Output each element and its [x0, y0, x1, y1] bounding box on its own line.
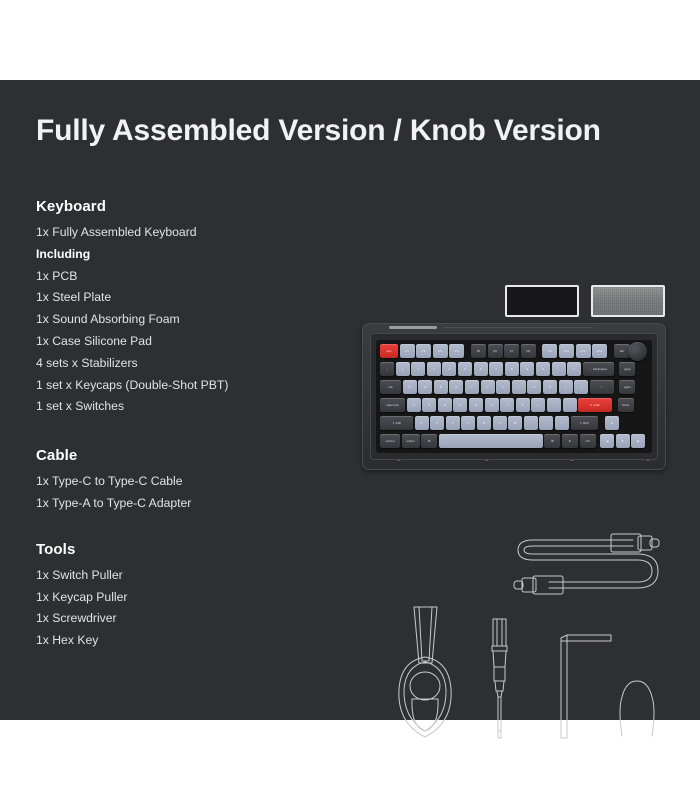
section-heading-cable: Cable [36, 447, 356, 464]
keyboard-row-shift: ⇧ shift Z X C V B N M , . / ⇧ shift [380, 416, 619, 430]
list-item: 4 sets x Stabilizers [36, 353, 356, 375]
key-control: control [380, 434, 400, 448]
page-title: Fully Assembled Version / Knob Version [36, 114, 601, 148]
key-9: 9 [520, 362, 534, 376]
key-period: . [539, 416, 553, 430]
list-item: 1x Type-C to Type-C Cable [36, 471, 356, 493]
key-o: O [527, 380, 541, 394]
key-4: 4 [442, 362, 456, 376]
key-arrow-left: ◀ [600, 434, 614, 448]
screwdriver-line-art [492, 619, 507, 738]
key-2: 2 [411, 362, 425, 376]
key-0: 0 [536, 362, 550, 376]
key-f5: F5 [471, 344, 486, 358]
key-f7: F7 [504, 344, 519, 358]
key-u: U [496, 380, 510, 394]
key-f12: F12 [592, 344, 607, 358]
keyboard-plate: esc F1 F2 F3 F4 F5 F6 F7 F8 F9 F10 F11 [376, 340, 652, 453]
list-item: 1x Hex Key [36, 630, 356, 652]
keyboard-top-bar [389, 326, 437, 329]
key-f4: F4 [449, 344, 464, 358]
keyboard-row-home: caps lock A S D F G H J K L ; ' [380, 398, 634, 412]
key-backspace: ← backspace [583, 362, 614, 376]
key-quote: ' [563, 398, 577, 412]
key-f10: F10 [559, 344, 574, 358]
color-swatch-silver-grey[interactable] [591, 285, 665, 317]
key-r: R [449, 380, 463, 394]
key-a: A [407, 398, 421, 412]
color-swatch-carbon-black[interactable] [505, 285, 579, 317]
usb-c-cable-line-art [514, 534, 659, 594]
key-enter: ↵ enter [578, 398, 612, 412]
keyboard-top-seam [443, 327, 593, 328]
key-backslash: \ [590, 380, 614, 394]
key-shift-right: ⇧ shift [571, 416, 598, 430]
key-m: M [508, 416, 522, 430]
keyboard-row-qwerty: tab Q W E R T Y U I O P [ ] [380, 380, 635, 394]
key-pgup: pgup [619, 362, 635, 376]
key-n: N [493, 416, 507, 430]
key-pgdn: pgdn [619, 380, 635, 394]
key-fn: fn [562, 434, 578, 448]
key-s: S [422, 398, 436, 412]
list-item: 1x Sound Absorbing Foam [36, 309, 356, 331]
key-f2: F2 [416, 344, 431, 358]
key-slash: / [555, 416, 569, 430]
section-heading-keyboard: Keyboard [36, 198, 356, 215]
switch-puller-line-art [399, 607, 451, 737]
key-6: 6 [474, 362, 488, 376]
list-item: 1x Steel Plate [36, 287, 356, 309]
key-arrow-right: ▶ [631, 434, 645, 448]
key-j: J [500, 398, 514, 412]
key-e: E [434, 380, 448, 394]
key-1: 1 [396, 362, 410, 376]
key-home: home [618, 398, 634, 412]
key-caps-lock: caps lock [380, 398, 405, 412]
key-5: 5 [458, 362, 472, 376]
key-f6: F6 [488, 344, 503, 358]
keyboard-row-function: esc F1 F2 F3 F4 F5 F6 F7 F8 F9 F10 F11 [380, 344, 630, 358]
key-v: V [461, 416, 475, 430]
key-arrow-down: ▼ [616, 434, 630, 448]
list-item: 1x PCB [36, 266, 356, 288]
list-item: 1x Case Silicone Pad [36, 331, 356, 353]
key-arrow-up: ▲ [605, 416, 619, 430]
tools-illustration [375, 605, 665, 745]
key-esc: esc [380, 344, 398, 358]
key-semicolon: ; [547, 398, 561, 412]
list-item: Including [36, 244, 356, 266]
contents-text-column: Keyboard 1x Fully Assembled Keyboard Inc… [36, 198, 356, 652]
key-q: Q [403, 380, 417, 394]
key-tilde: ~ [380, 362, 394, 376]
section-tools: Tools 1x Switch Puller 1x Keycap Puller … [36, 541, 356, 652]
key-option: option [402, 434, 420, 448]
list-item: 1x Keycap Puller [36, 587, 356, 609]
section-cable: Cable 1x Type-C to Type-C Cable 1x Type-… [36, 447, 356, 515]
color-swatch-group [505, 285, 665, 317]
key-minus: - [552, 362, 566, 376]
key-l: L [531, 398, 545, 412]
section-keyboard: Keyboard 1x Fully Assembled Keyboard Inc… [36, 198, 356, 418]
key-i: I [512, 380, 526, 394]
keyboard-row-bottom: control option ⌘ ⌘ fn ctrl ◀ ▼ ▶ [380, 434, 645, 448]
section-heading-tools: Tools [36, 541, 356, 558]
key-3: 3 [427, 362, 441, 376]
key-f8: F8 [521, 344, 536, 358]
keyboard-inner-frame: esc F1 F2 F3 F4 F5 F6 F7 F8 F9 F10 F11 [370, 333, 658, 460]
key-tab: tab [380, 380, 401, 394]
key-f9: F9 [542, 344, 557, 358]
key-t: T [465, 380, 479, 394]
list-item: 1x Screwdriver [36, 608, 356, 630]
key-x: X [430, 416, 444, 430]
key-f11: F11 [576, 344, 591, 358]
product-contents-page: Fully Assembled Version / Knob Version K… [0, 0, 700, 800]
keyboard-case: esc F1 F2 F3 F4 F5 F6 F7 F8 F9 F10 F11 [362, 323, 666, 470]
rotary-knob[interactable] [628, 342, 647, 361]
key-command-left: ⌘ [421, 434, 437, 448]
key-g: G [469, 398, 483, 412]
key-h: H [485, 398, 499, 412]
key-bracket-left: [ [559, 380, 573, 394]
keycap-puller-line-art [620, 681, 654, 736]
key-ctrl-right: ctrl [580, 434, 596, 448]
list-item: 1 set x Keycaps (Double-Shot PBT) [36, 375, 356, 397]
key-equals: = [567, 362, 581, 376]
key-bracket-right: ] [574, 380, 588, 394]
key-space [439, 434, 543, 448]
key-b: B [477, 416, 491, 430]
key-7: 7 [489, 362, 503, 376]
key-shift-left: ⇧ shift [380, 416, 413, 430]
keyboard-illustration: esc F1 F2 F3 F4 F5 F6 F7 F8 F9 F10 F11 [362, 323, 666, 470]
cable-illustration [505, 523, 670, 608]
key-f: F [453, 398, 467, 412]
key-8: 8 [505, 362, 519, 376]
key-c: C [446, 416, 460, 430]
key-f3: F3 [433, 344, 448, 358]
list-item: 1x Type-A to Type-C Adapter [36, 493, 356, 515]
key-k: K [516, 398, 530, 412]
key-y: Y [481, 380, 495, 394]
hex-key-line-art [561, 635, 611, 738]
key-z: Z [415, 416, 429, 430]
key-p: P [543, 380, 557, 394]
list-item: 1x Fully Assembled Keyboard [36, 222, 356, 244]
list-item: 1x Switch Puller [36, 565, 356, 587]
list-item: 1 set x Switches [36, 396, 356, 418]
key-w: W [418, 380, 432, 394]
key-d: D [438, 398, 452, 412]
key-command-right: ⌘ [544, 434, 560, 448]
dark-content-panel: Fully Assembled Version / Knob Version K… [0, 80, 700, 720]
key-f1: F1 [400, 344, 415, 358]
key-comma: , [524, 416, 538, 430]
keyboard-row-numbers: ~ 1 2 3 4 5 6 7 8 9 0 - = [380, 362, 635, 376]
